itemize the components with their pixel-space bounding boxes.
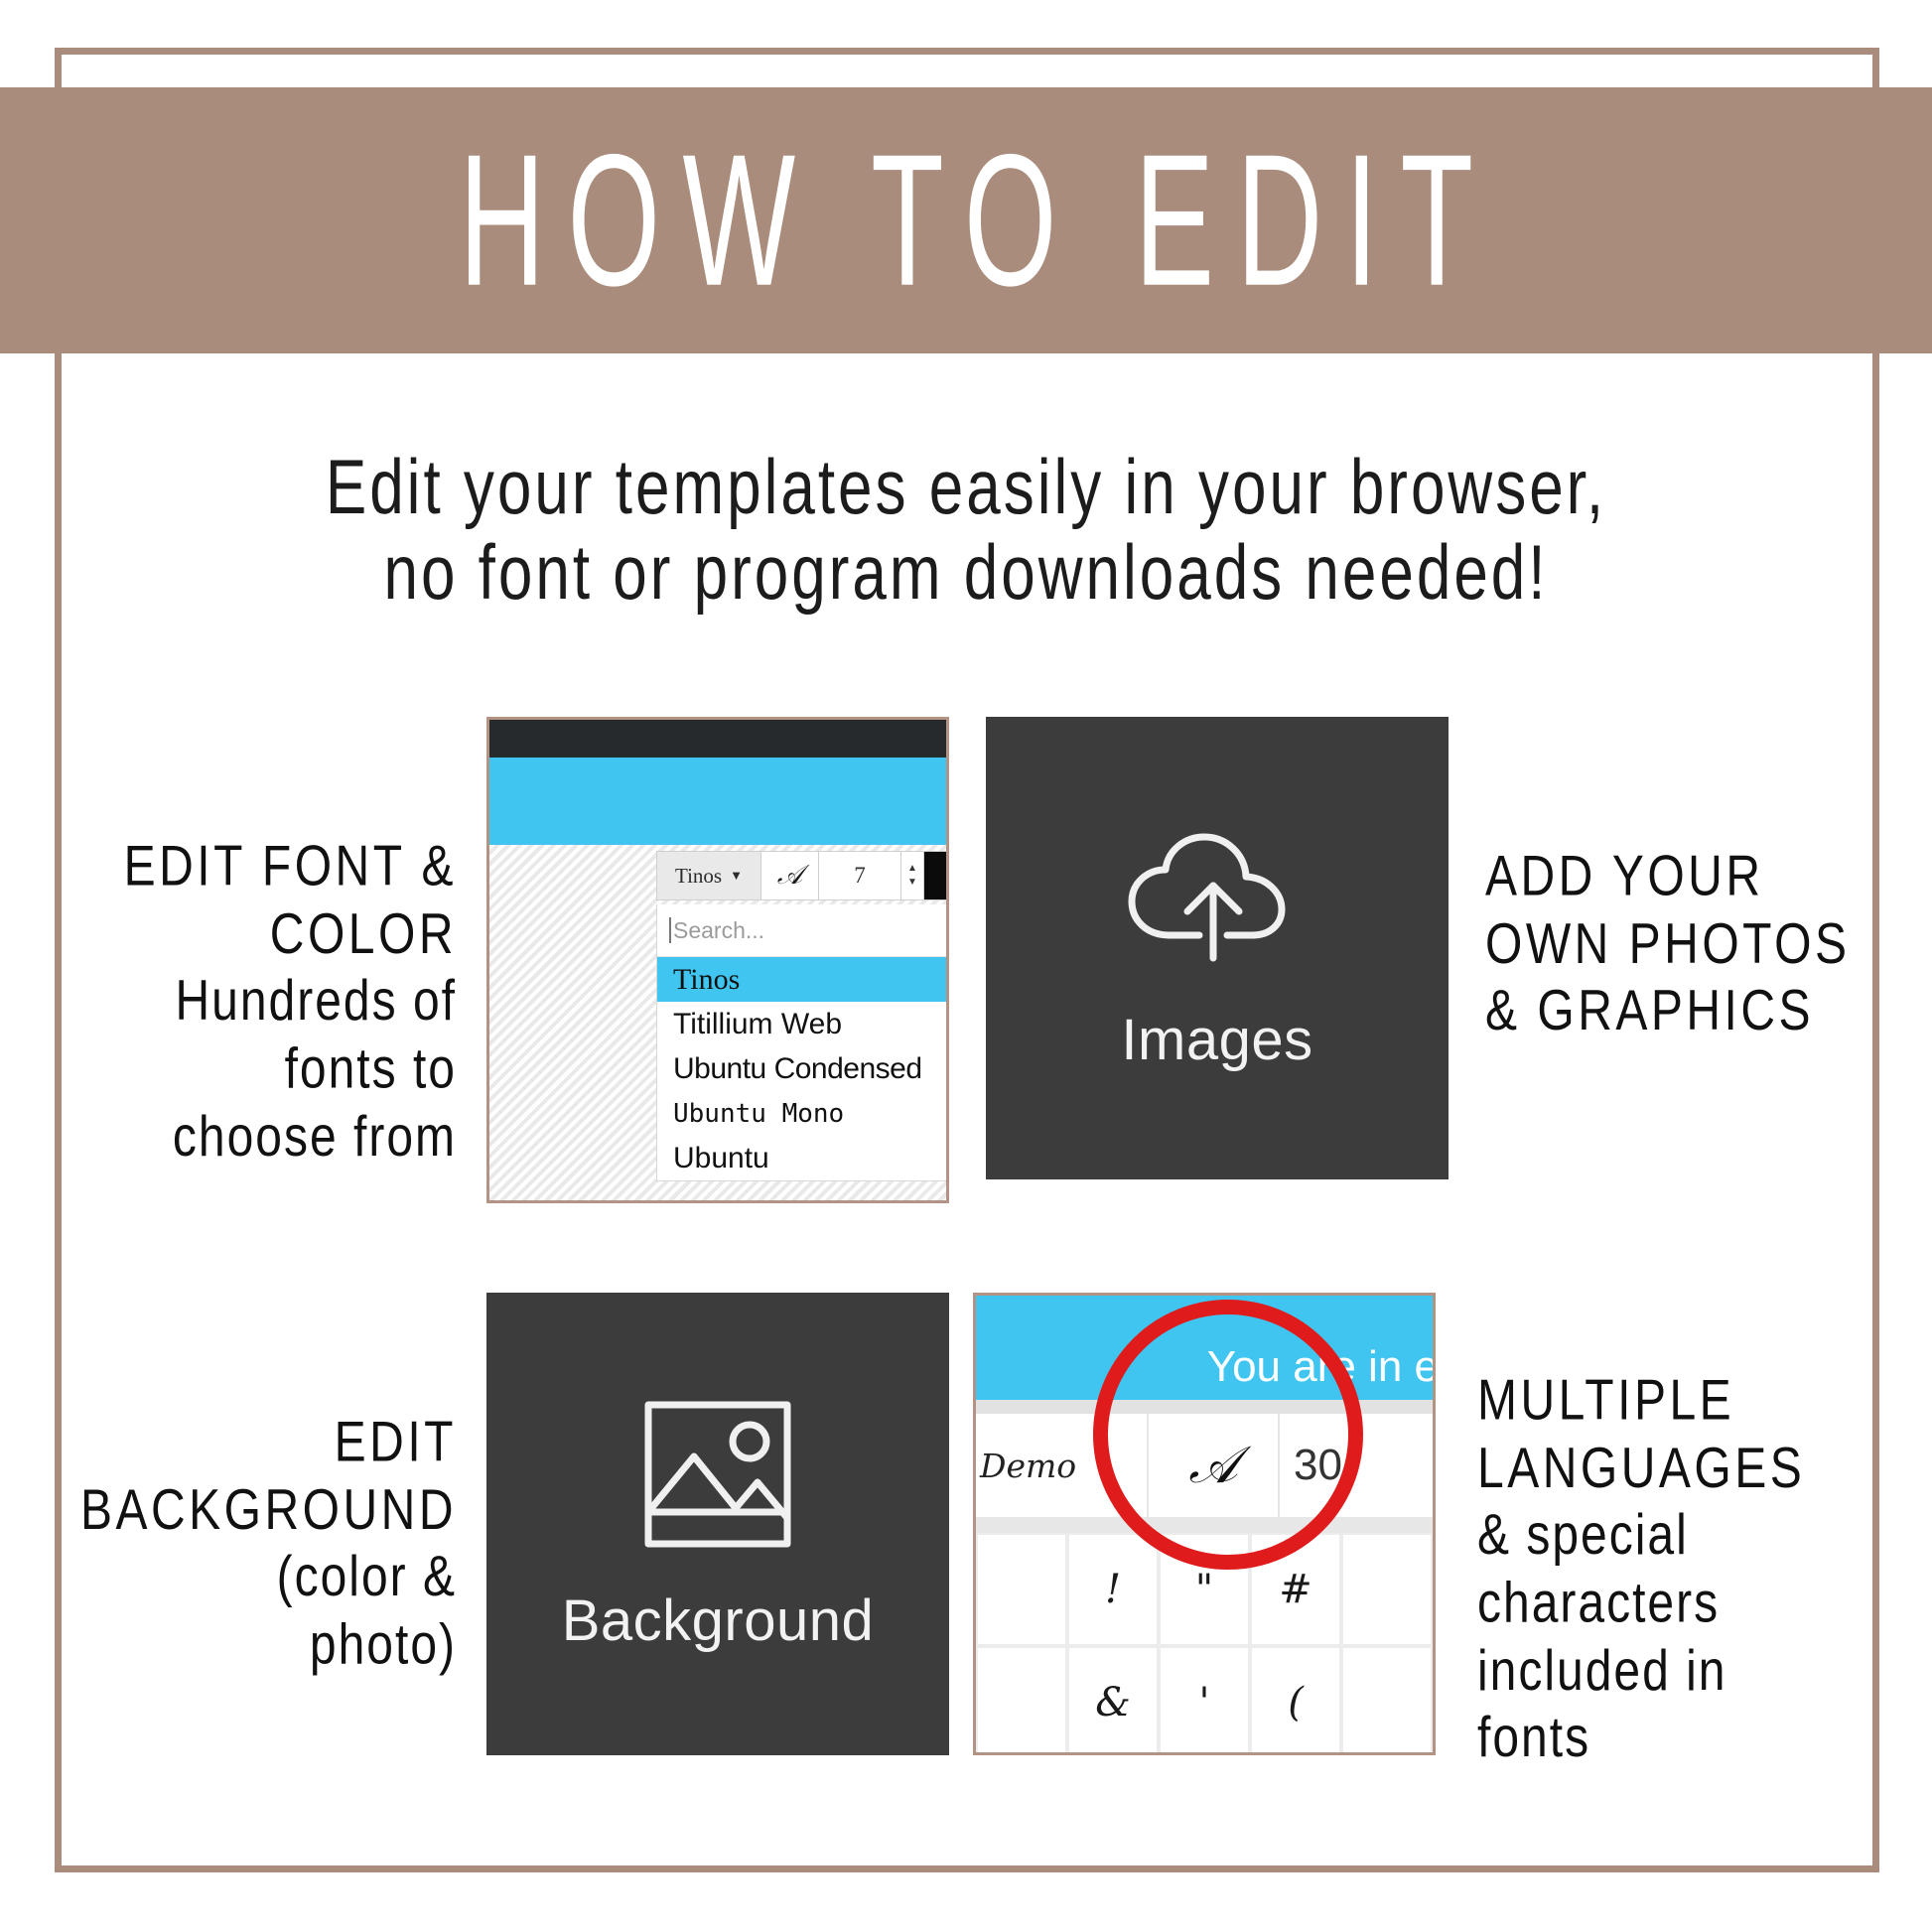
caption-edit-font-color: EDIT FONT & COLOR Hundreds of fonts to c… [60, 834, 457, 1172]
app-title-bar [489, 720, 946, 758]
character-glyph: ' [1199, 1680, 1210, 1725]
caption-add-photos: ADD YOUR OWN PHOTOS & GRAPHICS [1485, 844, 1912, 1046]
text-color-swatch[interactable] [924, 851, 947, 900]
caption-line: fonts to [60, 1036, 457, 1104]
caption-line: photo) [40, 1612, 457, 1680]
caption-line: included in [1477, 1638, 1904, 1706]
character-cell[interactable]: ' [1159, 1646, 1250, 1755]
font-list-item-titillium-web[interactable]: Titillium Web [657, 1002, 949, 1046]
font-list-item-label: Ubuntu Condensed [673, 1052, 922, 1086]
caption-line: OWN PHOTOS [1485, 911, 1912, 979]
caption-line: (color & [40, 1545, 457, 1612]
text-caret-icon [669, 917, 671, 943]
font-family-dropdown-list[interactable]: Search... Tinos Titillium Web Ubuntu Con… [656, 904, 949, 1181]
background-tool-tile[interactable]: Background [486, 1293, 949, 1755]
font-list-item-ubuntu-condensed[interactable]: Ubuntu Condensed [657, 1046, 949, 1091]
caption-line: fonts [1477, 1706, 1904, 1773]
text-toolbar: Tinos ▼ 𝒜 7 ▲ ▼ [656, 851, 947, 900]
font-size-stepper[interactable]: ▲ ▼ [901, 851, 924, 900]
font-list-item-ubuntu[interactable]: Ubuntu [657, 1136, 949, 1180]
stepper-down-icon[interactable]: ▼ [907, 878, 917, 888]
caption-line: characters [1477, 1571, 1904, 1638]
character-glyph: ( [1288, 1680, 1304, 1725]
caption-edit-background: EDIT BACKGROUND (color & photo) [40, 1410, 457, 1680]
app-blue-header [489, 758, 946, 845]
font-family-value: Demo [980, 1447, 1076, 1485]
font-list-item-label: Ubuntu [673, 1142, 769, 1175]
subtitle-line-1: Edit your templates easily in your brows… [119, 445, 1813, 531]
images-tool-tile[interactable]: Images [986, 717, 1449, 1179]
page-title: HOW TO EDIT [437, 127, 1496, 315]
background-tile-label: Background [562, 1587, 875, 1654]
font-list-item-label: Ubuntu Mono [673, 1099, 844, 1129]
character-glyph: & [1095, 1680, 1131, 1725]
subtitle: Edit your templates easily in your brows… [119, 445, 1813, 618]
caption-line: COLOR [60, 901, 457, 969]
character-glyph: " [1195, 1567, 1213, 1612]
red-highlight-circle [1093, 1300, 1363, 1570]
character-cell[interactable]: ! [1067, 1533, 1159, 1646]
caption-line: BACKGROUND [40, 1477, 457, 1545]
character-glyph: # [1279, 1567, 1312, 1612]
character-cell[interactable]: & [1067, 1646, 1159, 1755]
script-font-preview-button[interactable]: 𝒜 [761, 851, 819, 900]
caption-line: & GRAPHICS [1485, 979, 1912, 1046]
font-family-value: Tinos [675, 864, 722, 889]
character-glyph: ! [1105, 1567, 1121, 1612]
stepper-up-icon[interactable]: ▲ [907, 864, 917, 874]
font-editor-screenshot: Tinos ▼ 𝒜 7 ▲ ▼ Search... Tinos [486, 717, 949, 1203]
caption-line: choose from [60, 1104, 457, 1172]
header-banner: HOW TO EDIT [0, 87, 1932, 353]
character-cell[interactable] [976, 1533, 1067, 1646]
chevron-down-icon: ▼ [730, 868, 743, 884]
caption-line: & special [1477, 1503, 1904, 1571]
caption-multiple-languages: MULTIPLE LANGUAGES & special characters … [1477, 1368, 1904, 1773]
special-characters-screenshot: You are in e Demo 𝒜 30 ! " # & ' [973, 1293, 1436, 1755]
character-cell[interactable] [976, 1646, 1067, 1755]
subtitle-line-2: no font or program downloads needed! [119, 531, 1813, 618]
caption-line: LANGUAGES [1477, 1436, 1904, 1503]
cloud-upload-icon [1118, 824, 1316, 973]
caption-line: EDIT [40, 1410, 457, 1477]
font-search-input[interactable]: Search... [657, 904, 949, 957]
character-cell[interactable] [1341, 1533, 1433, 1646]
font-list-item-ubuntu-mono[interactable]: Ubuntu Mono [657, 1091, 949, 1136]
caption-line: Hundreds of [60, 969, 457, 1036]
caption-line: EDIT FONT & [60, 834, 457, 901]
character-cell[interactable]: ( [1250, 1646, 1341, 1755]
font-search-placeholder: Search... [673, 917, 764, 944]
script-a-icon: 𝒜 [777, 860, 803, 892]
font-list-item-label: Tinos [673, 963, 740, 997]
caption-line: MULTIPLE [1477, 1368, 1904, 1436]
font-list-item-label: Titillium Web [673, 1008, 842, 1041]
font-size-value: 7 [854, 863, 866, 889]
character-cell[interactable] [1341, 1646, 1433, 1755]
font-family-dropdown-button[interactable]: Tinos ▼ [656, 851, 761, 900]
caption-line: ADD YOUR [1485, 844, 1912, 911]
images-tile-label: Images [1121, 1007, 1312, 1073]
font-size-input[interactable]: 7 [819, 851, 901, 900]
app-canvas-area: Tinos ▼ 𝒜 7 ▲ ▼ Search... Tinos [489, 845, 946, 1203]
picture-icon [638, 1395, 797, 1554]
font-list-item-tinos[interactable]: Tinos [657, 957, 949, 1002]
